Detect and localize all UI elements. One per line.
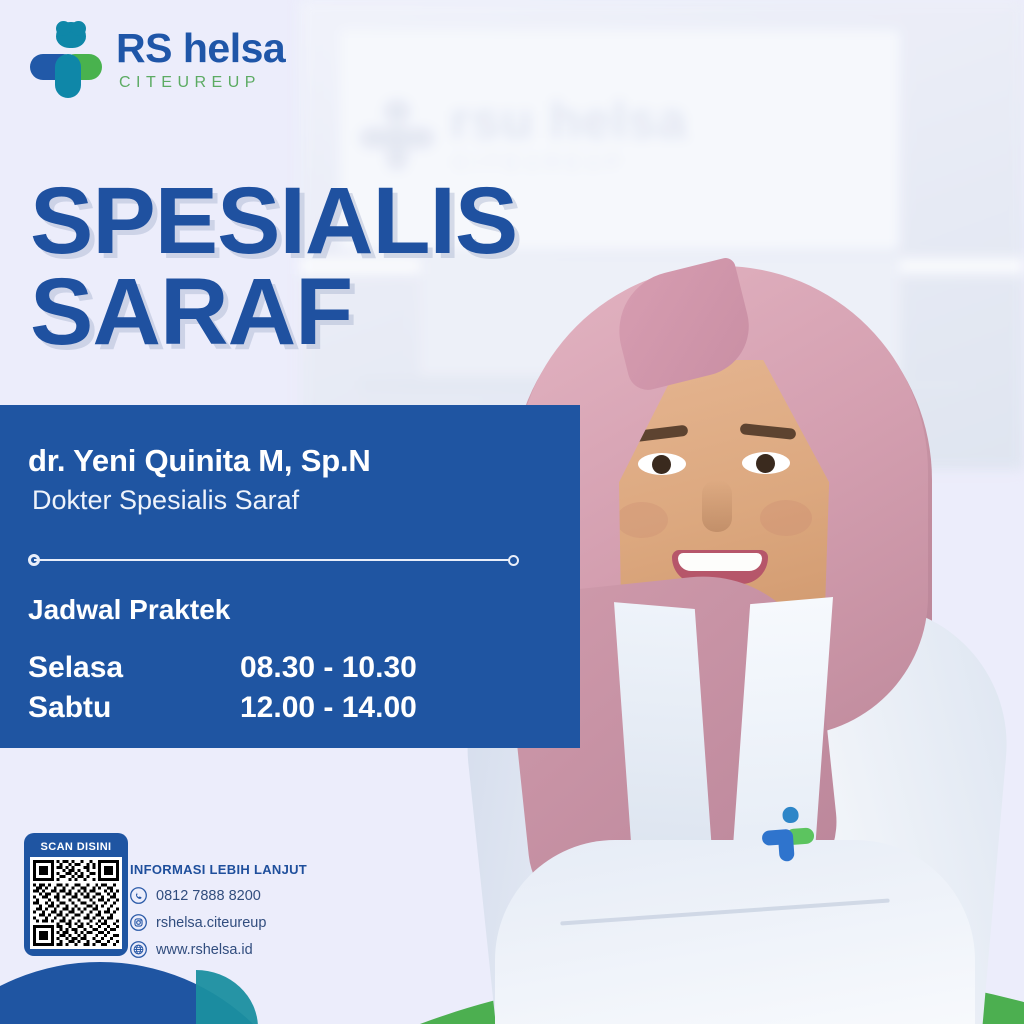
nose (702, 480, 732, 532)
whatsapp-icon (130, 887, 147, 904)
bottom-shape-overlap (196, 968, 320, 1024)
divider-line (34, 559, 514, 561)
eye-left (638, 453, 686, 475)
poster-canvas: rsu helsa CITEUREUP RS helsa CITEUREUP S… (0, 0, 1024, 1024)
schedule-list: Selasa 08.30 - 10.30 Sabtu 12.00 - 14.00 (28, 648, 580, 727)
instagram-icon (130, 914, 147, 931)
bottom-blue-shape (0, 962, 320, 1024)
qr-code-image[interactable] (30, 857, 122, 949)
page-title: SPESIALIS SARAF (30, 176, 517, 358)
doctor-name: dr. Yeni Quinita M, Sp.N (28, 443, 580, 479)
qr-card[interactable]: SCAN DISINI (24, 833, 128, 956)
doctor-info-panel: dr. Yeni Quinita M, Sp.N Dokter Spesiali… (0, 405, 580, 748)
helsa-cross-heart-icon (30, 22, 102, 98)
cheek-left (616, 502, 668, 538)
schedule-time: 12.00 - 14.00 (240, 688, 417, 728)
schedule-day: Selasa (28, 648, 240, 688)
eye-right (742, 452, 790, 474)
background-sign-word: rsu helsa (450, 95, 687, 147)
brand-logo: RS helsa CITEUREUP (30, 22, 285, 98)
contact-heading: INFORMASI LEBIH LANJUT (130, 862, 307, 877)
instagram-handle: rshelsa.citeureup (156, 915, 266, 931)
headline-line-2: SARAF (30, 267, 517, 358)
headline-line-1: SPESIALIS (30, 176, 517, 267)
schedule-row: Sabtu 12.00 - 14.00 (28, 688, 580, 728)
contact-row-instagram[interactable]: rshelsa.citeureup (130, 914, 307, 931)
coat-helsa-logo-icon (760, 805, 820, 867)
qr-label: SCAN DISINI (30, 839, 122, 857)
schedule-day: Sabtu (28, 688, 240, 728)
panel-divider (28, 554, 520, 566)
logo-wordmark: RS helsa (116, 28, 285, 69)
schedule-title: Jadwal Praktek (28, 594, 580, 626)
folded-arms (495, 840, 975, 1024)
qr-block[interactable]: SCAN DISINI (24, 833, 128, 956)
doctor-role: Dokter Spesialis Saraf (32, 485, 580, 516)
schedule-row: Selasa 08.30 - 10.30 (28, 648, 580, 688)
logo-subtitle: CITEUREUP (119, 74, 285, 92)
whatsapp-number: 0812 7888 8200 (156, 888, 261, 904)
contact-info: INFORMASI LEBIH LANJUT 0812 7888 8200 rs… (130, 862, 307, 958)
globe-icon (130, 941, 147, 958)
contact-row-whatsapp[interactable]: 0812 7888 8200 (130, 887, 307, 904)
contact-row-website[interactable]: www.rshelsa.id (130, 941, 307, 958)
website-url: www.rshelsa.id (156, 942, 253, 958)
schedule-time: 08.30 - 10.30 (240, 648, 417, 688)
background-logo-icon (360, 98, 434, 172)
cheek-right (760, 500, 812, 536)
qr-code-svg (33, 860, 119, 946)
divider-dot-right (508, 555, 519, 566)
